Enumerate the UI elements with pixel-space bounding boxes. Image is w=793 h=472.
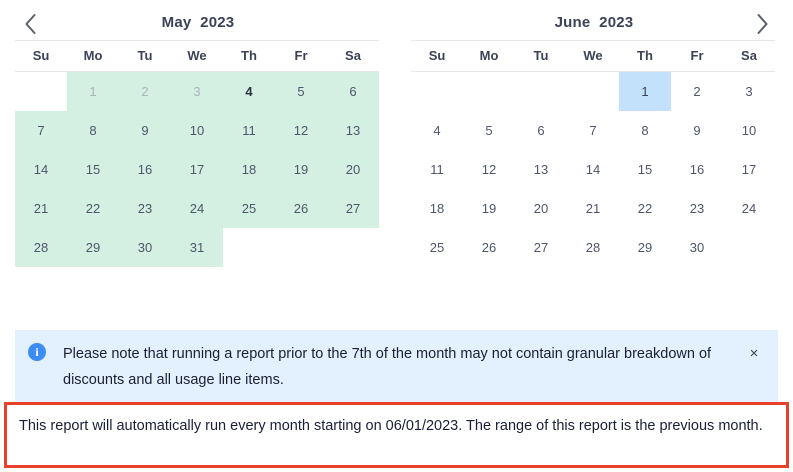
calendar-day[interactable]: 3 [723, 72, 775, 111]
calendar-header-next: June 2023 [396, 4, 792, 40]
calendar-day-empty [275, 228, 327, 267]
calendar-week-row: 252627282930 [411, 228, 775, 267]
calendar-grid-previous: 1234567891011121314151617181920212223242… [15, 72, 379, 267]
chevron-right-icon[interactable] [748, 10, 776, 38]
weekday-label: Su [15, 41, 67, 71]
calendar-day[interactable]: 18 [411, 189, 463, 228]
calendar-day[interactable]: 4 [223, 72, 275, 111]
info-banner-message: Please note that running a report prior … [63, 341, 732, 393]
calendar-day[interactable]: 27 [515, 228, 567, 267]
calendar-day-empty [411, 72, 463, 111]
calendar-day[interactable]: 23 [119, 189, 171, 228]
calendar-week-row: 21222324252627 [15, 189, 379, 228]
calendar-day[interactable]: 8 [619, 111, 671, 150]
calendar-header-previous: May 2023 [0, 4, 396, 40]
calendar-day-empty [327, 228, 379, 267]
calendar-day[interactable]: 16 [119, 150, 171, 189]
date-range-picker: May 2023 Su Mo Tu We Th Fr Sa 1234567891… [0, 0, 793, 472]
calendar-day[interactable]: 7 [15, 111, 67, 150]
calendar-day[interactable]: 10 [723, 111, 775, 150]
weekday-label: Su [411, 41, 463, 71]
calendar-day[interactable]: 6 [515, 111, 567, 150]
weekday-label: Mo [463, 41, 515, 71]
calendar-day-empty [463, 72, 515, 111]
calendar-week-row: 123 [411, 72, 775, 111]
weekday-label: Sa [327, 41, 379, 71]
calendar-title-previous: May 2023 [162, 14, 235, 31]
calendar-day[interactable]: 20 [327, 150, 379, 189]
calendar-week-row: 28293031 [15, 228, 379, 267]
calendar-week-row: 123456 [15, 72, 379, 111]
calendar-day[interactable]: 9 [119, 111, 171, 150]
calendar-day[interactable]: 13 [327, 111, 379, 150]
calendar-day[interactable]: 30 [671, 228, 723, 267]
weekday-header-previous: Su Mo Tu We Th Fr Sa [15, 40, 379, 72]
calendar-previous-month: May 2023 Su Mo Tu We Th Fr Sa 1234567891… [0, 0, 396, 290]
calendar-day[interactable]: 6 [327, 72, 379, 111]
calendar-day[interactable]: 11 [411, 150, 463, 189]
calendar-day[interactable]: 29 [619, 228, 671, 267]
weekday-label: Sa [723, 41, 775, 71]
calendar-day[interactable]: 24 [723, 189, 775, 228]
calendar-day[interactable]: 14 [15, 150, 67, 189]
calendar-day[interactable]: 19 [275, 150, 327, 189]
weekday-label: Tu [119, 41, 171, 71]
calendar-panel: May 2023 Su Mo Tu We Th Fr Sa 1234567891… [0, 0, 793, 290]
calendar-day[interactable]: 28 [567, 228, 619, 267]
calendar-day[interactable]: 15 [67, 150, 119, 189]
calendar-day-empty [223, 228, 275, 267]
calendar-day[interactable]: 28 [15, 228, 67, 267]
calendar-grid-next: 1234567891011121314151617181920212223242… [411, 72, 775, 267]
weekday-label: Mo [67, 41, 119, 71]
calendar-day[interactable]: 25 [411, 228, 463, 267]
calendar-day[interactable]: 5 [463, 111, 515, 150]
calendar-day[interactable]: 14 [567, 150, 619, 189]
calendar-day[interactable]: 7 [567, 111, 619, 150]
calendar-day[interactable]: 4 [411, 111, 463, 150]
calendar-day[interactable]: 3 [171, 72, 223, 111]
calendar-day[interactable]: 12 [275, 111, 327, 150]
calendar-day[interactable]: 8 [67, 111, 119, 150]
calendar-day[interactable]: 1 [67, 72, 119, 111]
calendar-day[interactable]: 11 [223, 111, 275, 150]
info-banner: i Please note that running a report prio… [15, 330, 778, 404]
calendar-day[interactable]: 23 [671, 189, 723, 228]
calendar-day[interactable]: 2 [119, 72, 171, 111]
calendar-day[interactable]: 13 [515, 150, 567, 189]
weekday-label: Tu [515, 41, 567, 71]
calendar-week-row: 11121314151617 [411, 150, 775, 189]
calendar-day[interactable]: 21 [15, 189, 67, 228]
weekday-label: We [171, 41, 223, 71]
calendar-day[interactable]: 16 [671, 150, 723, 189]
schedule-notice: This report will automatically run every… [4, 402, 789, 468]
calendar-day[interactable]: 5 [275, 72, 327, 111]
weekday-label: Th [223, 41, 275, 71]
weekday-label: Fr [671, 41, 723, 71]
calendar-week-row: 18192021222324 [411, 189, 775, 228]
calendar-day-empty [567, 72, 619, 111]
calendar-day[interactable]: 29 [67, 228, 119, 267]
weekday-label: Fr [275, 41, 327, 71]
calendar-day[interactable]: 26 [275, 189, 327, 228]
calendar-day[interactable]: 2 [671, 72, 723, 111]
calendar-day[interactable]: 12 [463, 150, 515, 189]
weekday-label: Th [619, 41, 671, 71]
calendar-day[interactable]: 20 [515, 189, 567, 228]
schedule-notice-message: This report will automatically run every… [19, 413, 774, 439]
close-icon[interactable]: × [744, 344, 764, 364]
weekday-header-next: Su Mo Tu We Th Fr Sa [411, 40, 775, 72]
calendar-week-row: 78910111213 [15, 111, 379, 150]
calendar-day[interactable]: 22 [67, 189, 119, 228]
calendar-week-row: 14151617181920 [15, 150, 379, 189]
calendar-day[interactable]: 26 [463, 228, 515, 267]
calendar-day[interactable]: 17 [723, 150, 775, 189]
calendar-day[interactable]: 19 [463, 189, 515, 228]
calendar-day-empty [15, 72, 67, 111]
calendar-day[interactable]: 31 [171, 228, 223, 267]
calendar-title-next: June 2023 [555, 14, 634, 31]
calendar-day-empty [723, 228, 775, 267]
calendar-day[interactable]: 10 [171, 111, 223, 150]
info-circle-icon: i [28, 343, 46, 361]
weekday-label: We [567, 41, 619, 71]
calendar-day[interactable]: 18 [223, 150, 275, 189]
calendar-day[interactable]: 15 [619, 150, 671, 189]
calendar-day[interactable]: 17 [171, 150, 223, 189]
calendar-day-empty [515, 72, 567, 111]
calendar-day[interactable]: 22 [619, 189, 671, 228]
calendar-day[interactable]: 21 [567, 189, 619, 228]
calendar-week-row: 45678910 [411, 111, 775, 150]
calendar-day[interactable]: 30 [119, 228, 171, 267]
calendar-day[interactable]: 1 [619, 72, 671, 111]
chevron-left-icon[interactable] [16, 10, 44, 38]
calendar-day[interactable]: 24 [171, 189, 223, 228]
calendar-next-month: June 2023 Su Mo Tu We Th Fr Sa 123456789… [396, 0, 792, 290]
calendar-day[interactable]: 25 [223, 189, 275, 228]
calendar-day[interactable]: 27 [327, 189, 379, 228]
calendar-day[interactable]: 9 [671, 111, 723, 150]
